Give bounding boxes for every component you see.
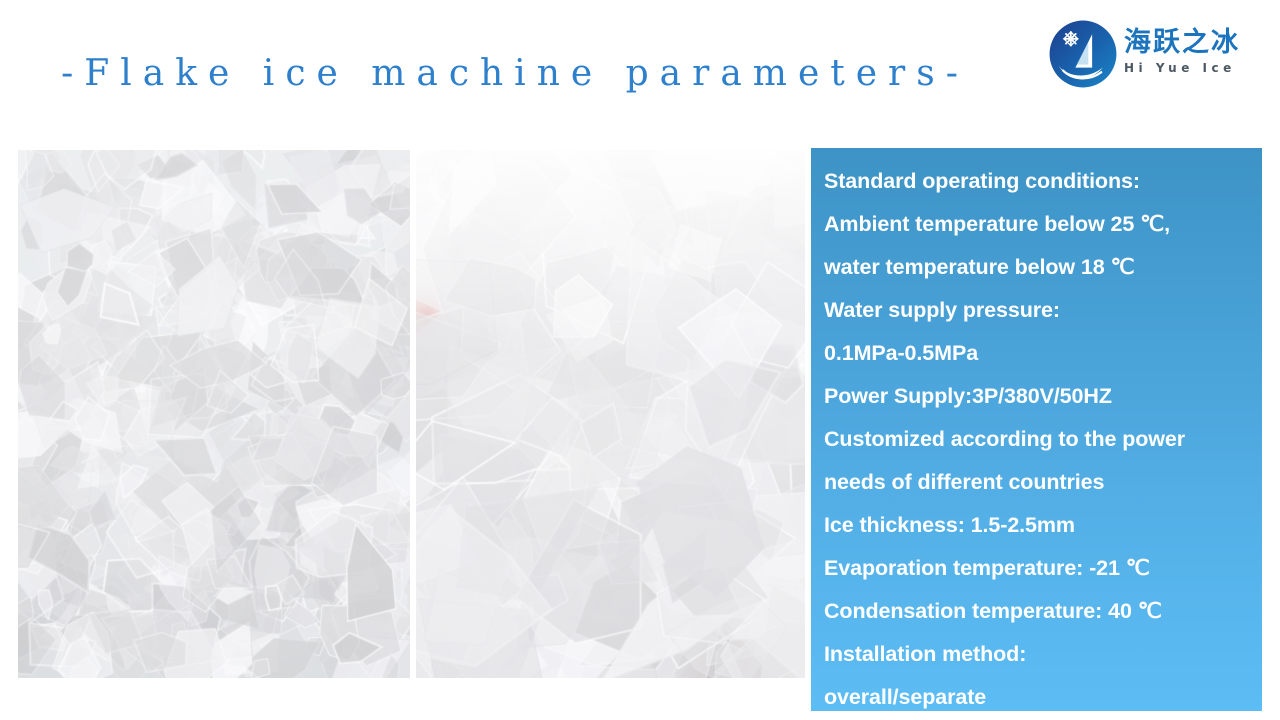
spec-line: Power Supply:3P/380V/50HZ: [824, 375, 1262, 418]
spec-line: Ambient temperature below 25 ℃,: [824, 203, 1262, 246]
spec-line: Ice thickness: 1.5-2.5mm: [824, 504, 1262, 547]
logo-emblem-icon: [1045, 16, 1121, 92]
standard-operating-conditions-panel: Standard operating conditions:Ambient te…: [811, 148, 1262, 711]
spec-line: needs of different countries: [824, 461, 1262, 504]
page-title: -Flake ice machine parameters-: [0, 50, 1030, 98]
logo-chinese-name: 海跃之冰: [1124, 28, 1266, 58]
spec-line: Condensation temperature: 40 ℃: [824, 590, 1262, 633]
logo-wordmark: 海跃之冰 Hi Yue Ice: [1124, 28, 1266, 76]
brand-logo[interactable]: 海跃之冰 Hi Yue Ice: [1042, 14, 1268, 104]
spec-line: Installation method:: [824, 633, 1262, 676]
flake-ice-closeup-canvas: [18, 150, 410, 678]
logo-english-name: Hi Yue Ice: [1124, 60, 1266, 76]
spec-line: Customized according to the power: [824, 418, 1262, 461]
spec-line: 0.1MPa-0.5MPa: [824, 332, 1262, 375]
spec-line: Evaporation temperature: -21 ℃: [824, 547, 1262, 590]
spec-line: overall/separate: [824, 676, 1262, 719]
flake-ice-closeup-photo: [18, 150, 410, 678]
flake-ice-with-seafood-photo: [416, 150, 805, 678]
spec-line: Water supply pressure:: [824, 289, 1262, 332]
flake-ice-seafood-canvas: [416, 150, 805, 678]
spec-line: Standard operating conditions:: [824, 160, 1262, 203]
slide-root: -Flake ice machine parameters-: [0, 0, 1280, 720]
spec-line: water temperature below 18 ℃: [824, 246, 1262, 289]
